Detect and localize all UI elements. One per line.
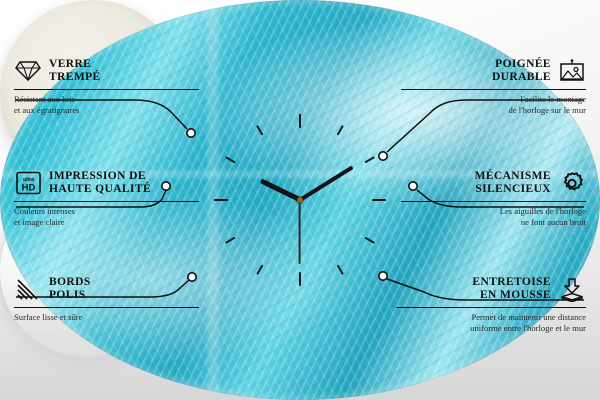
ultra-hd-icon: ultra HD: [14, 170, 42, 196]
callout-description: Couleurs intenseset image claire: [14, 206, 199, 227]
callout-rule: [14, 201, 199, 202]
callout-title: VERRETREMPÉ: [49, 58, 101, 84]
callout-entretoise-en-mousse[interactable]: ENTRETOISEEN MOUSSE Permet de maintenir …: [396, 276, 586, 334]
gear-icon: [558, 170, 586, 196]
callout-description: Permet de maintenir une distanceuniforme…: [396, 312, 586, 333]
callout-header: VERRETREMPÉ: [14, 58, 199, 84]
callout-rule: [14, 89, 199, 90]
callout-header: ENTRETOISEEN MOUSSE: [396, 276, 586, 302]
callout-mecanisme-silencieux[interactable]: MÉCANISMESILENCIEUX Les aiguilles de l'h…: [401, 170, 586, 228]
callout-poignee-durable[interactable]: POIGNÉEDURABLE Facilite le montagede l'h…: [401, 58, 586, 116]
callout-rule: [396, 307, 586, 308]
callout-title: ENTRETOISEEN MOUSSE: [472, 276, 551, 302]
callout-rule: [401, 201, 586, 202]
callout-bords-polis[interactable]: BORDSPOLIS Surface lisse et sûre: [14, 276, 199, 323]
callout-description: Surface lisse et sûre: [14, 312, 199, 323]
callout-verre-trempe[interactable]: VERRETREMPÉ Résistant aux briset aux égr…: [14, 58, 199, 116]
callout-rule: [14, 307, 199, 308]
picture-hanger-icon: [558, 58, 586, 84]
callout-description: Facilite le montagede l'horloge sur le m…: [401, 94, 586, 115]
callout-header: ultra HD IMPRESSION DEHAUTE QUALITÉ: [14, 170, 199, 196]
callout-title: IMPRESSION DEHAUTE QUALITÉ: [49, 170, 151, 196]
callout-title: BORDSPOLIS: [49, 276, 91, 302]
callout-description: Les aiguilles de l'horlogene font aucun …: [401, 206, 586, 227]
callout-title: MÉCANISMESILENCIEUX: [475, 170, 551, 196]
callout-rule: [401, 89, 586, 90]
svg-text:HD: HD: [21, 183, 35, 194]
polished-edges-icon: [14, 276, 42, 302]
callout-header: POIGNÉEDURABLE: [401, 58, 586, 84]
callout-header: BORDSPOLIS: [14, 276, 199, 302]
callout-title: POIGNÉEDURABLE: [492, 58, 551, 84]
diamond-icon: [14, 58, 42, 84]
callout-description: Résistant aux briset aux égratignures: [14, 94, 199, 115]
infographic-canvas: VERRETREMPÉ Résistant aux briset aux égr…: [0, 0, 600, 400]
foam-spacer-icon: [558, 276, 586, 302]
callout-impression-haute-qualite[interactable]: ultra HD IMPRESSION DEHAUTE QUALITÉ Coul…: [14, 170, 199, 228]
callout-header: MÉCANISMESILENCIEUX: [401, 170, 586, 196]
